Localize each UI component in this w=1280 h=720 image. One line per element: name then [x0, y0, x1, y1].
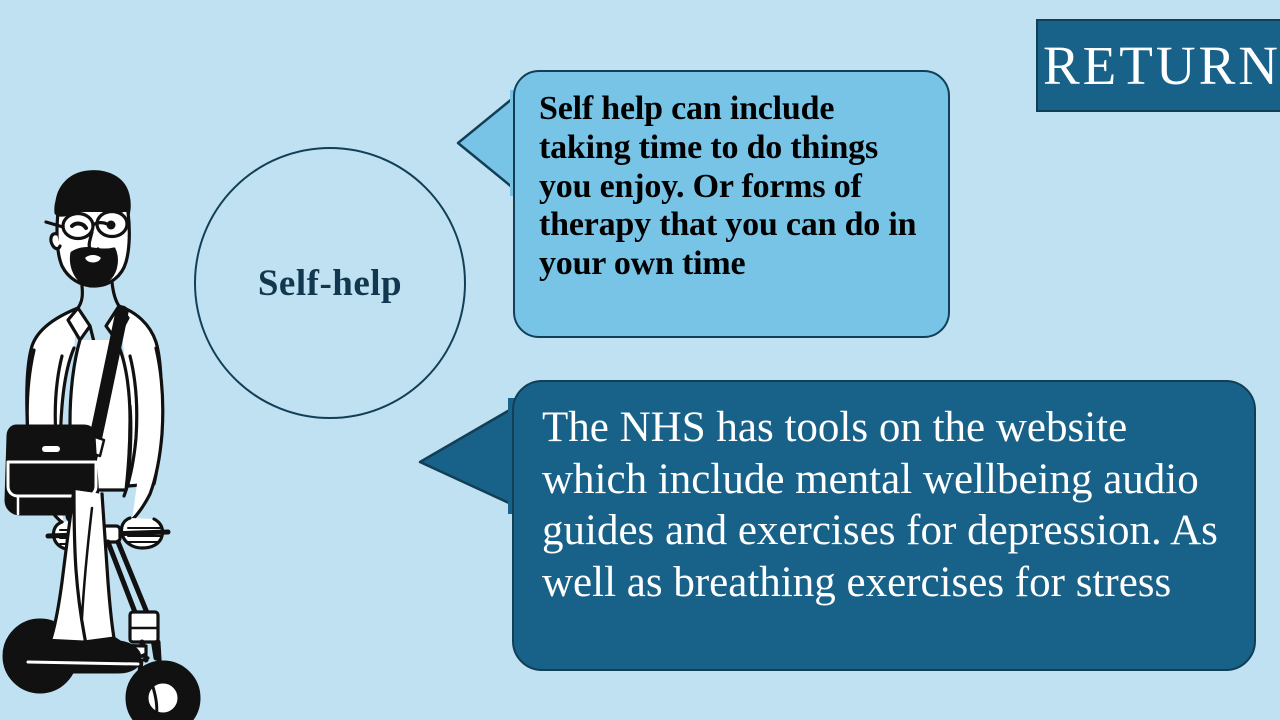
slide-canvas: Self-help Self help can include taking t…	[0, 0, 1280, 720]
return-button[interactable]: RETURN	[1036, 19, 1280, 112]
return-button-label: RETURN	[1043, 38, 1280, 93]
self-help-circle-node[interactable]: Self-help	[194, 147, 466, 419]
speech-bubble-nhs-tools: The NHS has tools on the website which i…	[512, 380, 1256, 671]
man-on-scooter-illustration	[0, 150, 220, 720]
man-on-scooter-svg	[0, 150, 220, 720]
self-help-circle-label: Self-help	[258, 265, 402, 302]
speech-bubble-self-help-text: Self help can include taking time to do …	[539, 90, 926, 284]
speech-bubble-nhs-tools-text: The NHS has tools on the website which i…	[542, 402, 1228, 608]
speech-bubble-self-help: Self help can include taking time to do …	[513, 70, 950, 338]
